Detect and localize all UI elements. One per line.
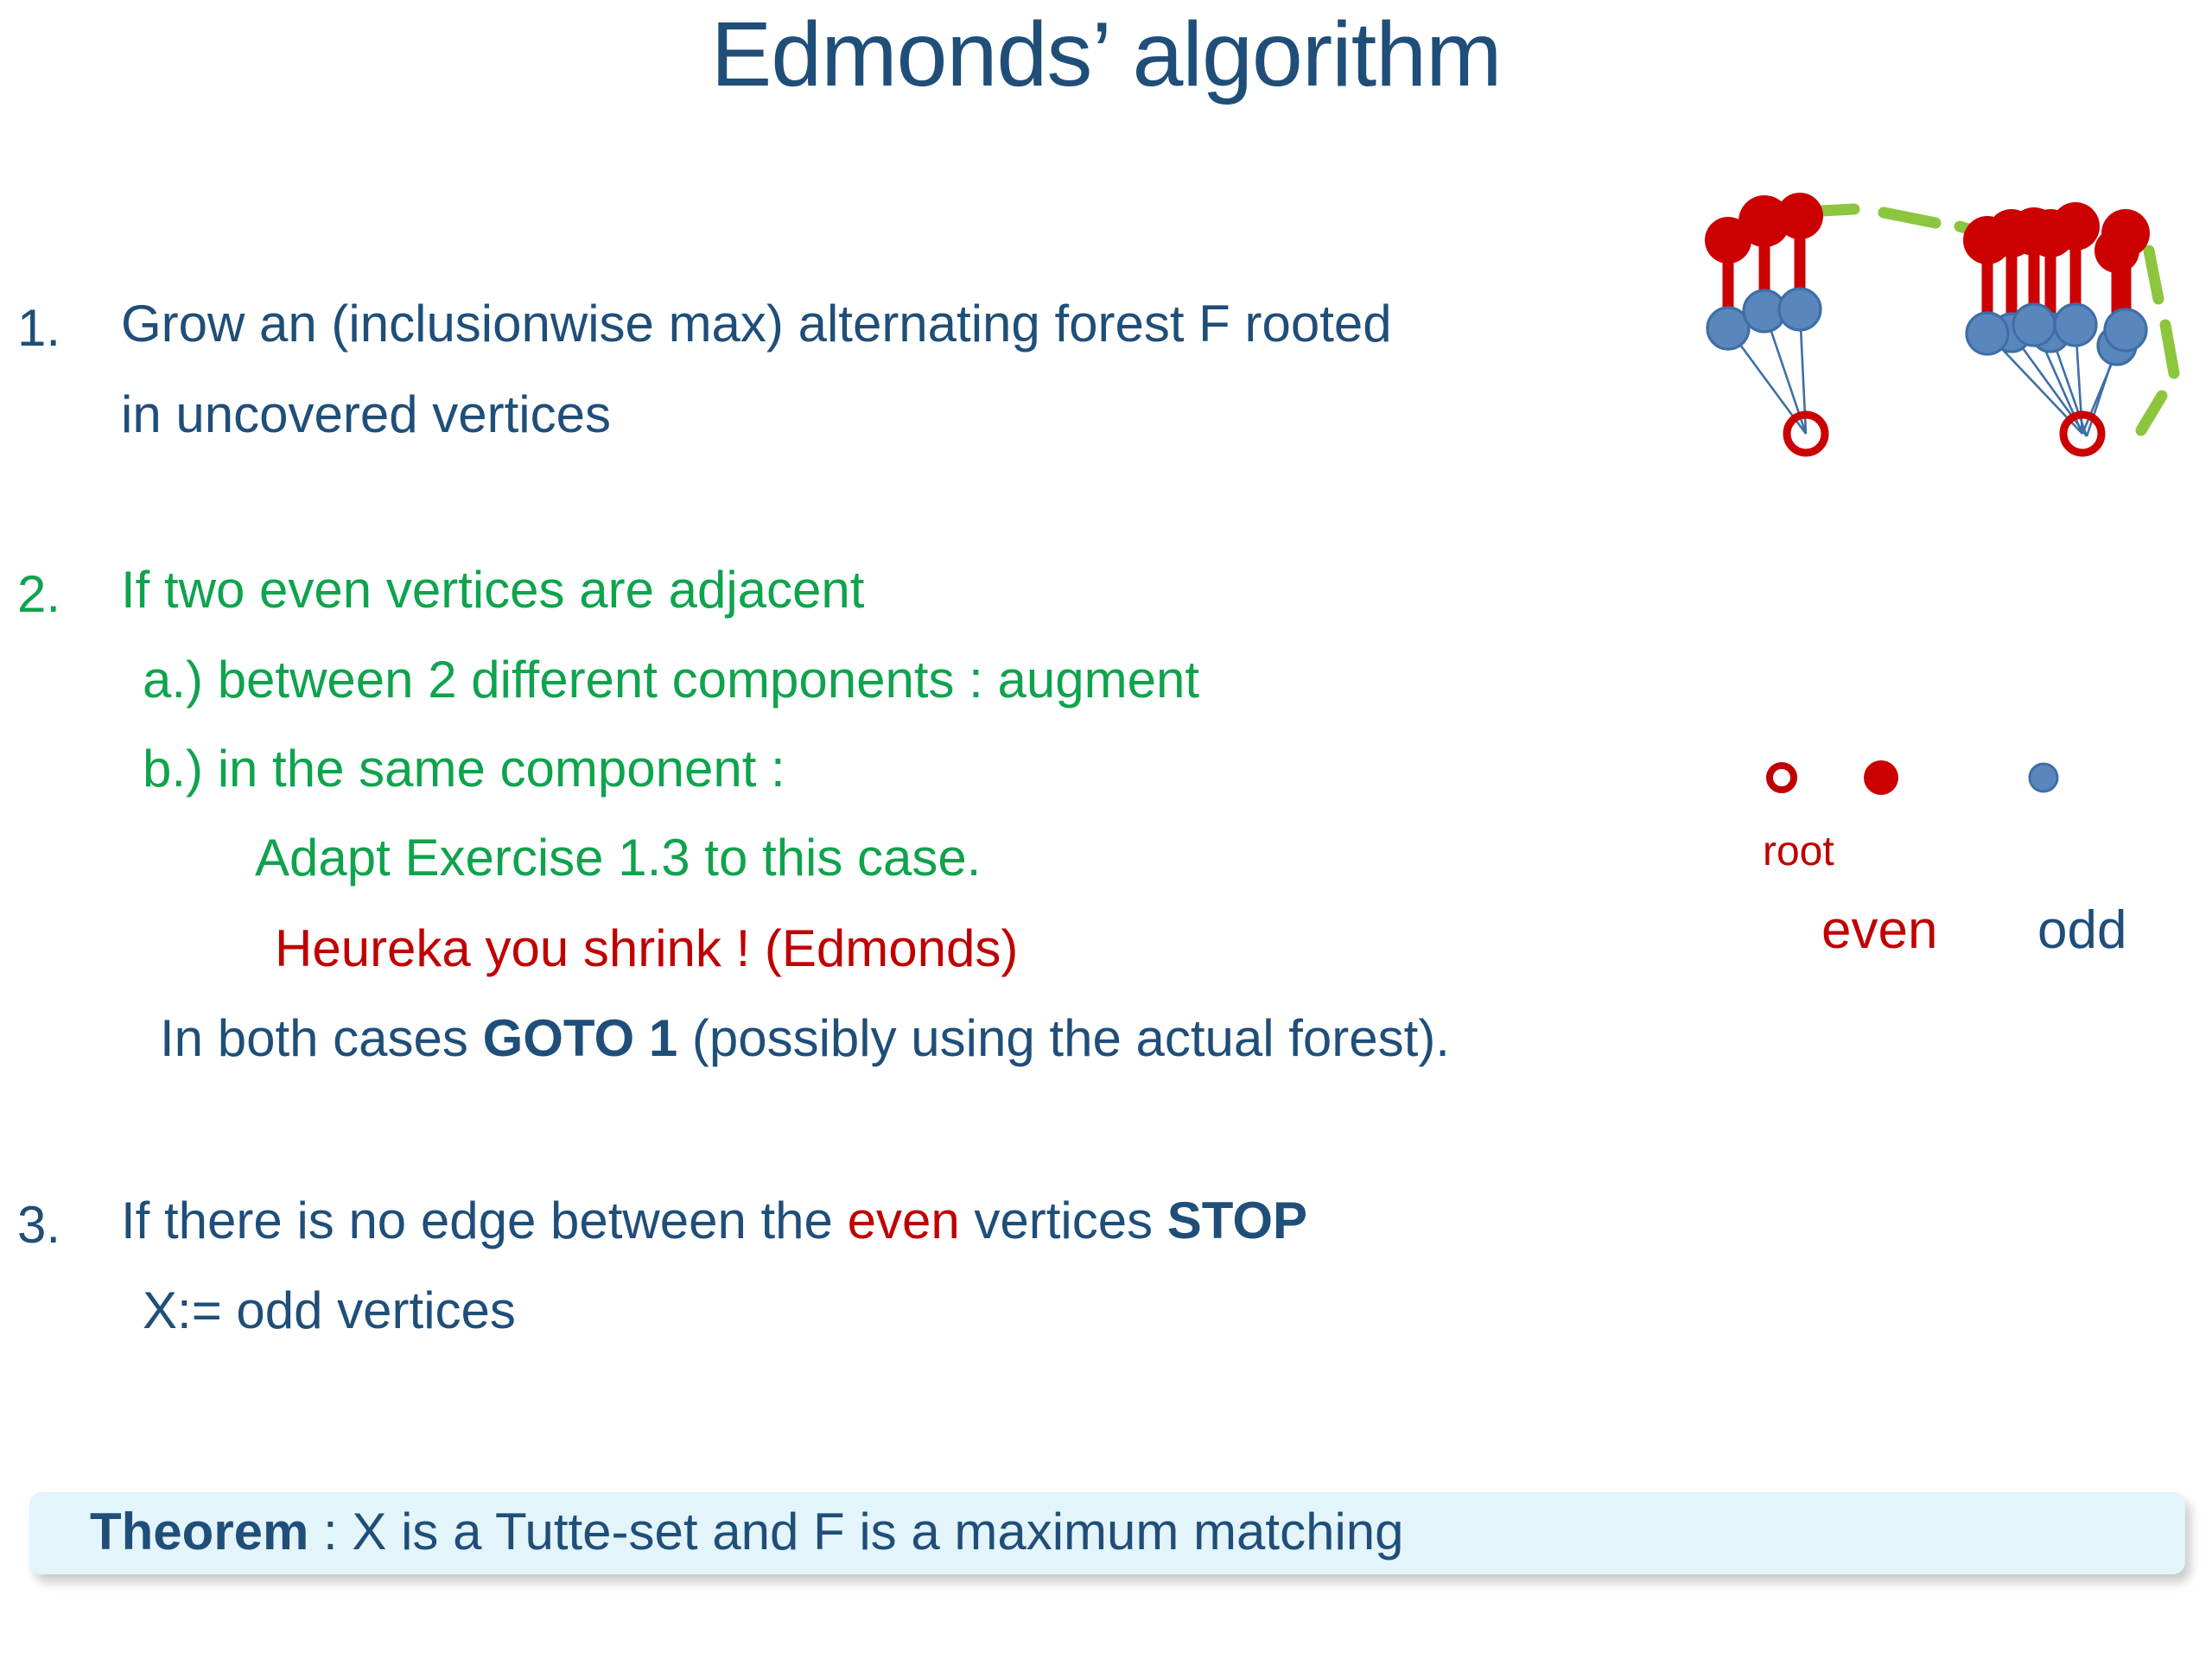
step-3-number: 3. bbox=[17, 1195, 60, 1255]
step-2-line-2b: b.) in the same component : bbox=[143, 743, 785, 795]
step-1-line-1: Grow an (inclusionwise max) alternating … bbox=[121, 298, 1392, 350]
theorem-label: Theorem bbox=[90, 1503, 308, 1560]
step-2-line-heureka: Heureka you shrink ! (Edmonds) bbox=[275, 923, 1018, 975]
step-2-line-exercise: Adapt Exercise 1.3 to this case. bbox=[255, 832, 981, 884]
step-3-line-2: X:= odd vertices bbox=[143, 1285, 516, 1337]
goto-line-post: (possibly using the actual forest). bbox=[677, 1009, 1450, 1067]
goto-label: GOTO 1 bbox=[483, 1009, 678, 1067]
theorem-text: Theorem : X is a Tutte-set and F is a ma… bbox=[90, 1506, 1404, 1558]
step-3-line-1: If there is no edge between the even ver… bbox=[121, 1195, 1307, 1247]
legend-even-label: even bbox=[1821, 904, 1937, 957]
legend-odd-icon bbox=[2030, 764, 2057, 791]
step-2-line-1: If two even vertices are adjacent bbox=[121, 564, 864, 616]
alternating-forest-diagram: .match { stroke:#CC0000; stroke-width:13… bbox=[1685, 156, 2212, 812]
step-2-number: 2. bbox=[17, 564, 60, 624]
page-title: Edmonds’ algorithm bbox=[0, 7, 2212, 103]
legend-odd-label: odd bbox=[2037, 904, 2126, 957]
stop-label: STOP bbox=[1167, 1192, 1307, 1249]
step-1-line-2: in uncovered vertices bbox=[121, 389, 611, 441]
legend-root-label: root bbox=[1763, 831, 1834, 873]
goto-line-pre: In both cases bbox=[160, 1009, 483, 1067]
theorem-body: X is a Tutte-set and F is a maximum matc… bbox=[352, 1503, 1403, 1560]
step-3-even-word: even bbox=[848, 1192, 960, 1249]
goto-line: In both cases GOTO 1 (possibly using the… bbox=[160, 1013, 1450, 1065]
theorem-callout-box: Theorem : X is a Tutte-set and F is a ma… bbox=[29, 1492, 2185, 1574]
legend-icons bbox=[1763, 752, 2169, 812]
legend-even-icon bbox=[1864, 760, 1898, 795]
step-3-mid: vertices bbox=[960, 1192, 1167, 1249]
step-1-number: 1. bbox=[17, 298, 60, 358]
legend-root-icon bbox=[1770, 766, 1794, 790]
theorem-colon: : bbox=[308, 1503, 352, 1560]
step-3-pre: If there is no edge between the bbox=[121, 1192, 848, 1249]
step-2-line-2a: a.) between 2 different components : aug… bbox=[143, 654, 1199, 706]
